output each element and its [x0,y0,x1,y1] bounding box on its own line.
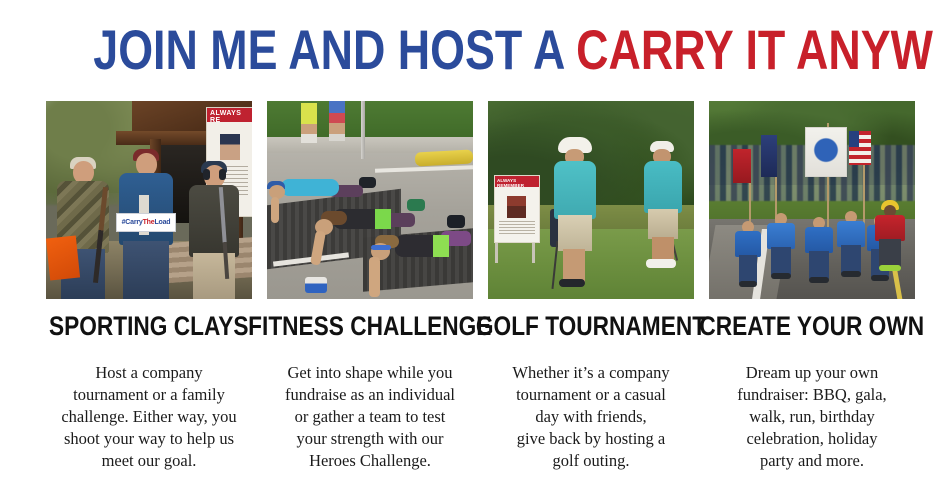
poster-header-banner [207,108,252,122]
person-marcher [837,211,865,283]
event-card-sporting-clays: #CarryTheLoad SPORTING CLAYS Host a comp… [46,101,252,472]
event-card-create-your-own: CREATE YOUR OWN Dream up your own fundra… [709,101,915,472]
headline-highlight: CARRY IT ANYWHERE [576,18,933,81]
body-line: Whether it’s a company [488,362,694,384]
card-body-create-your-own: Dream up your own fundraiser: BBQ, gala,… [709,362,915,472]
person-marcher [805,217,833,287]
card-title-sporting-clays: SPORTING CLAYS [49,313,249,340]
body-line: or gather a team to test [267,406,473,428]
body-line: give back by hosting a [488,428,694,450]
person-shooter-right [186,165,242,299]
body-line: challenge. Either way, you [46,406,252,428]
flag-usa-canton [849,131,859,147]
body-line: Heroes Challenge. [267,450,473,472]
card-body-golf-tournament: Whether it’s a company tournament or a c… [488,362,694,472]
body-line: fundraise as an individual [267,384,473,406]
card-title-golf-tournament: GOLF TOURNAMENT [476,313,706,340]
card-title-fitness-challenge: FITNESS CHALLENGE [248,313,491,340]
event-card-fitness-challenge: FITNESS CHALLENGE Get into shape while y… [267,101,473,472]
page-headline: JOIN ME AND HOST A CARRY IT ANYWHERE EVE… [93,22,839,78]
sign-text-carry: #Carry [122,219,143,226]
photo-create-your-own [709,101,915,299]
carry-the-load-sign: #CarryTheLoad [116,213,176,232]
photo-golf-tournament [488,101,694,299]
body-line: party and more. [709,450,915,472]
body-line: day with friends, [488,406,694,428]
body-line: Get into shape while you [267,362,473,384]
body-line: tournament or a family [46,384,252,406]
sign-text-the: The [143,219,155,226]
person-golfer-back [638,141,686,271]
poster-header-banner [495,176,539,187]
person-golfer-front [550,137,600,287]
photo-fitness-challenge [267,101,473,299]
body-line: Host a company [46,362,252,384]
event-type-card-grid: #CarryTheLoad SPORTING CLAYS Host a comp… [46,101,888,472]
person-marcher [767,213,795,283]
body-line: tournament or a casual [488,384,694,406]
photo-sporting-clays: #CarryTheLoad [46,101,252,299]
always-remember-poster-3 [494,175,540,243]
sign-text-load: Load [154,219,170,226]
body-line: fundraiser: BBQ, gala, [709,384,915,406]
card-title-create-your-own: CREATE YOUR OWN [700,313,925,340]
body-line: walk, run, birthday [709,406,915,428]
flag-red [733,149,751,183]
headline-part-1: JOIN ME AND HOST A [93,18,576,81]
flag-navy [761,135,777,177]
flag-white-seal [805,127,847,177]
body-line: Dream up your own [709,362,915,384]
person-marcher [735,221,761,287]
card-body-sporting-clays: Host a company tournament or a family ch… [46,362,252,472]
person-marcher-firefighter [875,205,905,283]
body-line: celebration, holiday [709,428,915,450]
person-pushup-front [349,225,473,299]
body-line: meet our goal. [46,450,252,472]
card-body-fitness-challenge: Get into shape while you fundraise as an… [267,362,473,472]
body-line: your strength with our [267,428,473,450]
body-line: shoot your way to help us [46,428,252,450]
event-card-golf-tournament: GOLF TOURNAMENT Whether it’s a company t… [488,101,694,472]
body-line: golf outing. [488,450,694,472]
